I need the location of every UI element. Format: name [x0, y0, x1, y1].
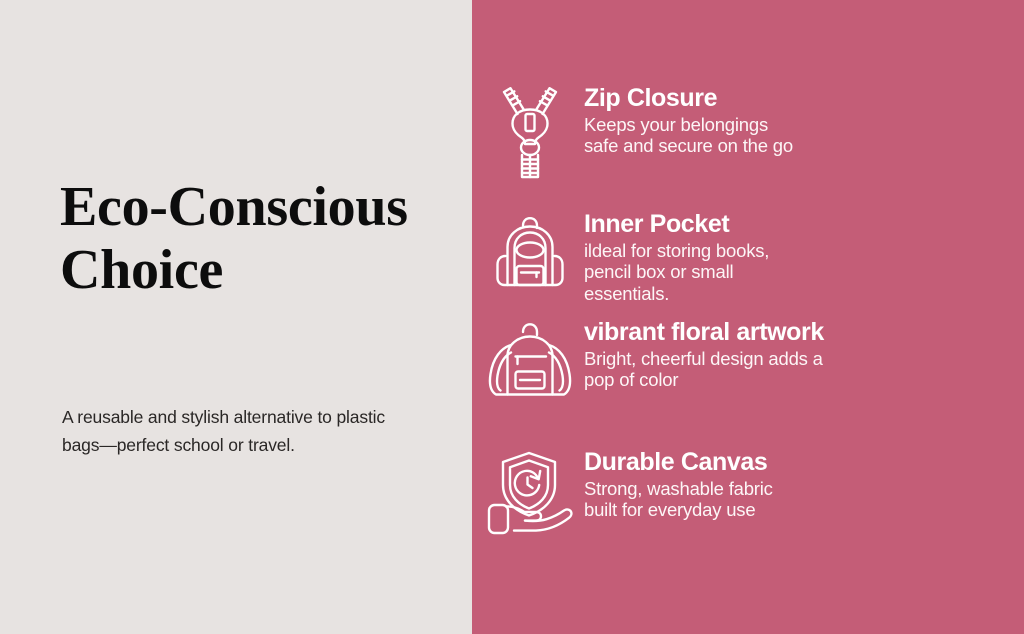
- feature-title: Inner Pocket: [584, 210, 1014, 239]
- backpack-oval-pocket-icon: [484, 208, 576, 300]
- feature-description: Strong, washable fabric built for everyd…: [584, 478, 1014, 522]
- feature-text-block: Zip Closure Keeps your belongings safe a…: [576, 82, 1014, 157]
- intro-paragraph: A reusable and stylish alternative to pl…: [62, 404, 422, 459]
- feature-title: vibrant floral artwork: [584, 318, 1014, 347]
- feature-title: Zip Closure: [584, 84, 1014, 113]
- left-intro-panel: Eco-Conscious Choice A reusable and styl…: [0, 0, 472, 634]
- feature-description: Bright, cheerful design adds a pop of co…: [584, 348, 1014, 392]
- backpack-flap-icon: [484, 316, 576, 408]
- feature-item-durable-canvas: Durable Canvas Strong, washable fabric b…: [484, 446, 1014, 538]
- product-feature-poster: Eco-Conscious Choice A reusable and styl…: [0, 0, 1024, 634]
- right-features-panel: Zip Closure Keeps your belongings safe a…: [472, 0, 1024, 634]
- feature-text-block: vibrant floral artwork Bright, cheerful …: [576, 316, 1014, 391]
- feature-description: ildeal for storing books, pencil box or …: [584, 240, 1014, 305]
- feature-text-block: Inner Pocket ildeal for storing books, p…: [576, 208, 1014, 305]
- feature-item-zip-closure: Zip Closure Keeps your belongings safe a…: [484, 82, 1014, 174]
- zipper-icon: [484, 82, 576, 174]
- page-title: Eco-Conscious Choice: [60, 176, 440, 301]
- shield-hand-icon: [484, 446, 576, 538]
- feature-title: Durable Canvas: [584, 448, 1014, 477]
- feature-description: Keeps your belongings safe and secure on…: [584, 114, 1014, 158]
- feature-item-inner-pocket: Inner Pocket ildeal for storing books, p…: [484, 208, 1014, 305]
- feature-item-floral-artwork: vibrant floral artwork Bright, cheerful …: [484, 316, 1014, 408]
- feature-list: Zip Closure Keeps your belongings safe a…: [472, 0, 1024, 634]
- feature-text-block: Durable Canvas Strong, washable fabric b…: [576, 446, 1014, 521]
